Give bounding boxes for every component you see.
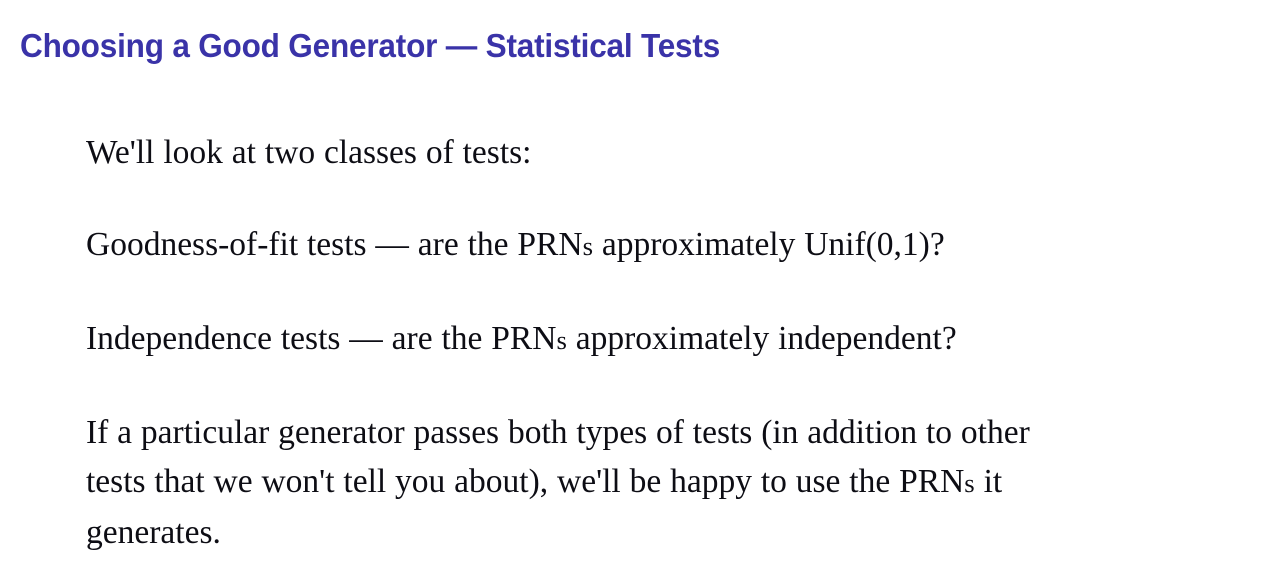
- acronym-prns: PRNs: [517, 226, 593, 263]
- slide-body: We'll look at two classes of tests: Good…: [86, 128, 1206, 557]
- conclusion-line-2: tests that we won't tell you about), we'…: [86, 463, 899, 500]
- independence-prefix: Independence tests — are the: [86, 320, 491, 357]
- paragraph-independence: Independence tests — are the PRNs approx…: [86, 314, 1206, 365]
- acronym-caps: PRN: [491, 320, 556, 357]
- acronym-small: s: [556, 325, 566, 355]
- acronym-small: s: [964, 468, 974, 498]
- page-title: Choosing a Good Generator — Statistical …: [20, 26, 720, 66]
- acronym-prns: PRNs: [899, 463, 975, 500]
- paragraph-conclusion: If a particular generator passes both ty…: [86, 408, 1204, 557]
- paragraph-intro: We'll look at two classes of tests:: [86, 128, 1206, 177]
- conclusion-line-2-tail: it: [975, 463, 1003, 500]
- goodness-of-fit-suffix: approximately Unif(0,1)?: [593, 226, 945, 263]
- acronym-caps: PRN: [517, 226, 582, 263]
- conclusion-line-1: If a particular generator passes both ty…: [86, 414, 1030, 451]
- acronym-prns: PRNs: [491, 320, 567, 357]
- paragraph-goodness-of-fit: Goodness-of-fit tests — are the PRNs app…: [86, 220, 1206, 271]
- slide-canvas: Choosing a Good Generator — Statistical …: [0, 0, 1280, 564]
- independence-suffix: approximately independent?: [567, 320, 957, 357]
- acronym-small: s: [583, 231, 593, 261]
- acronym-caps: PRN: [899, 463, 964, 500]
- conclusion-line-3: generates.: [86, 514, 221, 551]
- goodness-of-fit-prefix: Goodness-of-fit tests — are the: [86, 226, 517, 263]
